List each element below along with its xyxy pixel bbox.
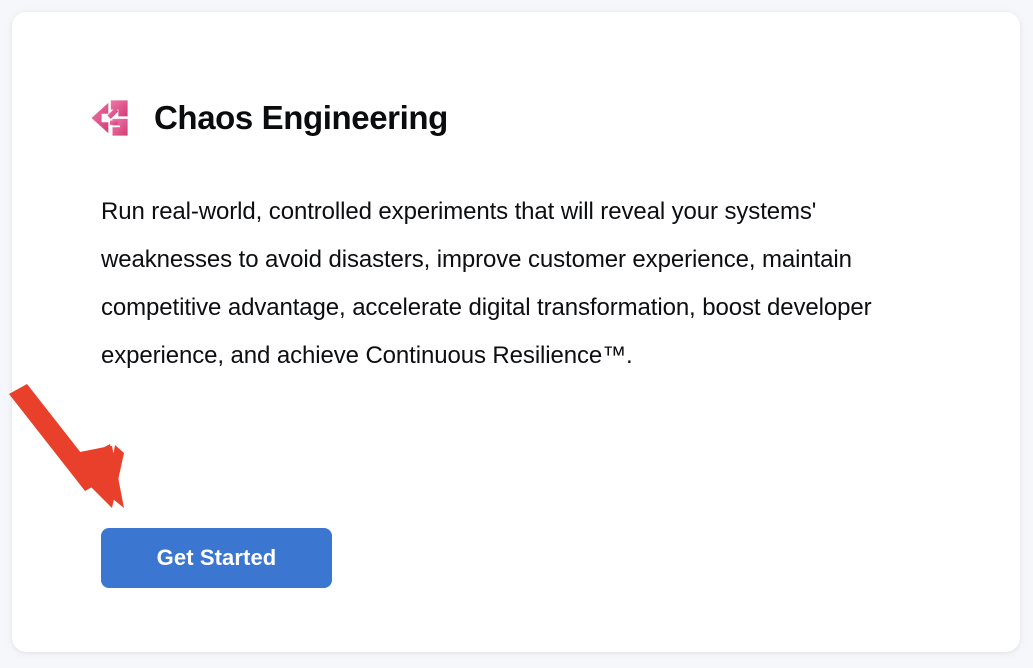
card-description-block: Run real-world, controlled experiments t… [101,188,946,380]
card-description-text: Run real-world, controlled experiments t… [101,188,946,380]
screenshot-stage: Chaos Engineering Run real-world, contro… [0,0,1033,668]
get-started-button[interactable]: Get Started [101,528,332,588]
page-title: Chaos Engineering [154,100,448,136]
chaos-engineering-card: Chaos Engineering Run real-world, contro… [12,12,1020,652]
card-header: Chaos Engineering [89,90,448,146]
gremlin-chaos-logo-icon [89,97,131,139]
